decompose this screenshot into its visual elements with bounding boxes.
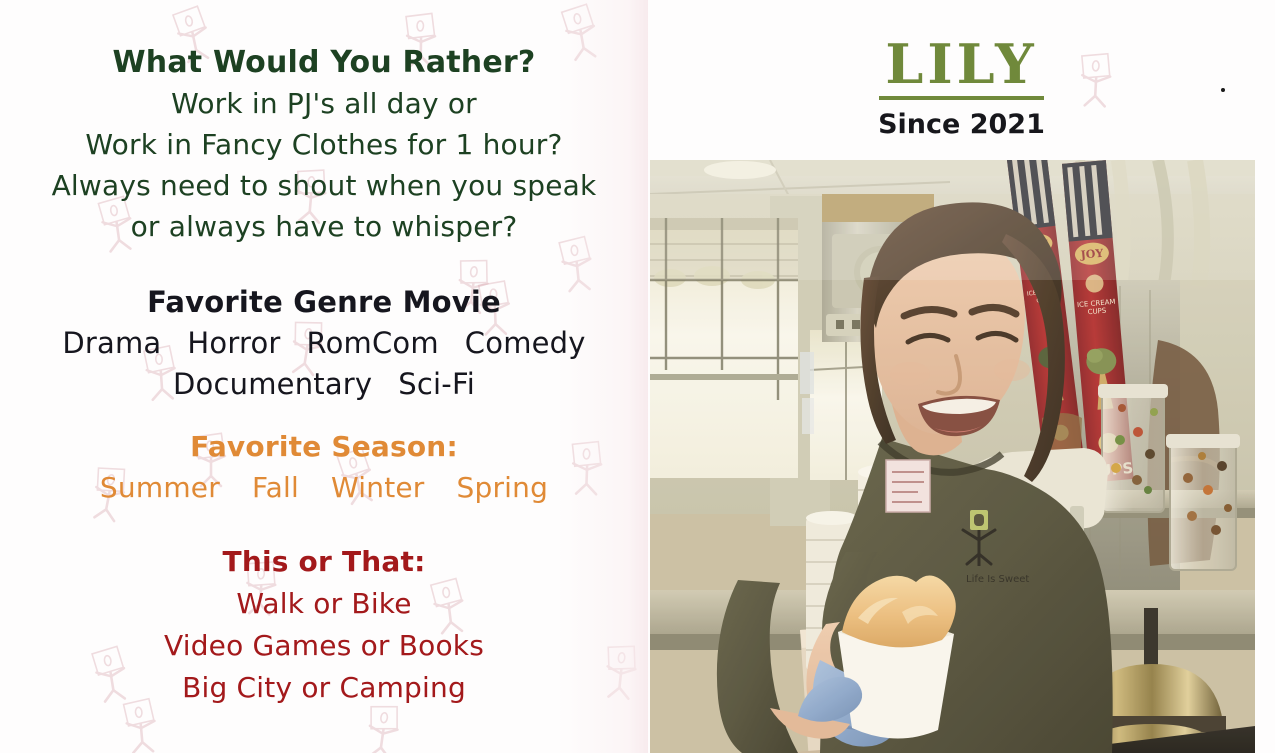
season-option-summer: Summer (100, 471, 220, 504)
season-option-spring: Spring (457, 471, 549, 504)
genre-option-romcom: RomCom (307, 326, 439, 360)
genre-options-row-1: DramaHorrorRomComComedy (0, 323, 648, 364)
flyer-page: What Would You Rather? Work in PJ's all … (0, 0, 1275, 753)
genre-options-row-2: DocumentarySci-Fi (0, 364, 648, 405)
would-you-rather-line-3: Always need to shout when you speak (0, 165, 648, 206)
genre-option-comedy: Comedy (465, 326, 586, 360)
genre-option-documentary: Documentary (173, 367, 372, 401)
would-you-rather-line-1: Work in PJ's all day or (0, 83, 648, 124)
section-heading-would-you-rather: What Would You Rather? (0, 42, 648, 83)
this-or-that-line-2: Video Games or Books (0, 625, 648, 667)
genre-option-scifi: Sci-Fi (398, 367, 475, 401)
brand-name: LILY (879, 36, 1043, 100)
season-option-fall: Fall (252, 471, 299, 504)
section-would-you-rather: What Would You Rather? Work in PJ's all … (0, 42, 648, 247)
section-heading-this-or-that: This or That: (0, 541, 648, 583)
genre-option-horror: Horror (187, 326, 280, 360)
this-or-that-line-3: Big City or Camping (0, 667, 648, 709)
section-this-or-that: This or That: Walk or Bike Video Games o… (0, 541, 648, 709)
section-favorite-season: Favorite Season: SummerFallWinterSpring (0, 426, 648, 508)
would-you-rather-line-4: or always have to whisper? (0, 206, 648, 247)
brand-block: LILY Since 2021 (648, 36, 1275, 141)
section-favorite-genre-movie: Favorite Genre Movie DramaHorrorRomComCo… (0, 282, 648, 405)
questions-column: What Would You Rather? Work in PJ's all … (0, 0, 648, 753)
section-heading-favorite-genre-movie: Favorite Genre Movie (0, 282, 648, 323)
section-heading-favorite-season: Favorite Season: (0, 426, 648, 467)
season-options-row: SummerFallWinterSpring (0, 467, 648, 508)
brand-column: LILY Since 2021 (648, 0, 1275, 753)
season-option-winter: Winter (331, 471, 425, 504)
this-or-that-line-1: Walk or Bike (0, 583, 648, 625)
would-you-rather-line-2: Work in Fancy Clothes for 1 hour? (0, 124, 648, 165)
brand-since: Since 2021 (648, 109, 1275, 141)
stray-ink-dot (1221, 88, 1225, 92)
genre-option-drama: Drama (62, 326, 161, 360)
